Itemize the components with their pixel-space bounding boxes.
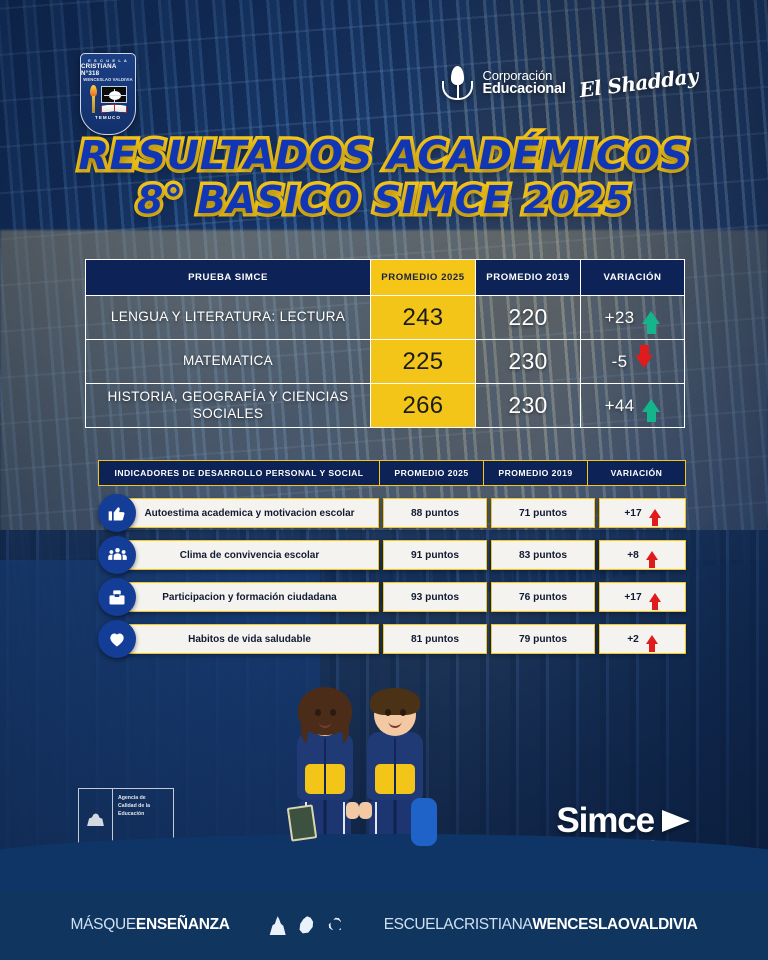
book-prop-icon (287, 804, 317, 841)
table-header-row: PRUEBA SIMCE PROMEDIO 2025 PROMEDIO 2019… (86, 260, 685, 296)
indicator-row-participacion: Participacion y formación ciudadana 93 p… (120, 582, 686, 612)
col-indicadores: INDICADORES DE DESARROLLO PERSONAL Y SOC… (99, 461, 380, 485)
col-variacion: VARIACIÓN (581, 260, 685, 296)
indicator-p2019: 71 puntos (491, 498, 595, 528)
footer-slogan-bold: ENSEÑANZA (136, 916, 230, 933)
simce-results-table: PRUEBA SIMCE PROMEDIO 2025 PROMEDIO 2019… (85, 259, 685, 428)
footer-curve (0, 834, 768, 890)
arrow-up-icon (646, 635, 658, 644)
indicator-p2025: 91 puntos (383, 540, 487, 570)
footer-school-name: ESCUELACRISTIANAWENCESLAOVALDIVIA (384, 916, 698, 934)
school-crest-logo: E S C U E L A CRISTIANA N°318 WENCESLAO … (80, 53, 136, 135)
indicator-row-autoestima: Autoestima academica y motivacion escola… (120, 498, 686, 528)
corporation-logo: Corporación Educacional El Shadday (442, 66, 698, 100)
footer-school-bold: WENCESLAOVALDIVIA (532, 916, 697, 933)
backpack-icon (411, 798, 437, 846)
page-title: RESULTADOS ACADÉMICOS 8° BASICO SIMCE 20… (0, 136, 768, 220)
footer-slogan: MÁSQUEENSEÑANZA (71, 916, 230, 934)
tree-icon (268, 915, 288, 935)
heart-outline-icon (325, 914, 347, 936)
footer-school-light: ESCUELACRISTIANA (384, 916, 533, 933)
crest-line-cristiana: CRISTIANA N°318 (81, 63, 135, 77)
indicator-p2025: 88 puntos (383, 498, 487, 528)
agency-line3: Educación (118, 811, 168, 819)
title-line-1: RESULTADOS ACADÉMICOS (0, 136, 768, 177)
table-row: HISTORIA, GEOGRAFÍA Y CIENCIAS SOCIALES … (86, 384, 685, 428)
arrow-up-icon (642, 311, 660, 324)
row-p2019-lectura: 220 (476, 296, 581, 340)
variation-value: +23 (605, 308, 635, 328)
ballot-box-icon (98, 578, 136, 616)
indicator-p2025: 93 puntos (383, 582, 487, 612)
indicator-variation: +2 (599, 624, 686, 654)
col-ind-promedio-2025: PROMEDIO 2025 (380, 461, 484, 485)
indicator-variation: +8 (599, 540, 686, 570)
corporation-script-name: El Shadday (578, 64, 699, 102)
corporation-text: Corporación Educacional (482, 69, 565, 97)
arrow-up-icon (646, 551, 658, 560)
indicator-p2019: 83 puntos (491, 540, 595, 570)
row-p2019-matematica: 230 (476, 340, 581, 384)
heart-icon (98, 620, 136, 658)
title-line-2: 8° BASICO SIMCE 2025 (0, 181, 768, 220)
row-name-historia: HISTORIA, GEOGRAFÍA Y CIENCIAS SOCIALES (86, 384, 371, 428)
paper-plane-icon (662, 810, 690, 832)
arrow-up-icon (649, 509, 661, 518)
hand-heart-icon (297, 915, 317, 935)
indicators-table: INDICADORES DE DESARROLLO PERSONAL Y SOC… (98, 460, 686, 654)
crest-emblem (89, 85, 127, 113)
flame-book-icon (442, 66, 473, 100)
poster-root: E S C U E L A CRISTIANA N°318 WENCESLAO … (0, 0, 768, 960)
row-variation-lectura: +23 (581, 296, 685, 340)
footer-icons (268, 915, 346, 935)
arrow-up-icon (642, 399, 660, 412)
crest-city: TEMUCO (95, 115, 121, 120)
torch-icon (89, 85, 98, 113)
thumbs-up-icon (98, 494, 136, 532)
row-p2025-matematica: 225 (371, 340, 476, 384)
table-row: LENGUA Y LITERATURA: LECTURA 243 220 +23 (86, 296, 685, 340)
table-row: MATEMATICA 225 230 -5 (86, 340, 685, 384)
variation-value: +44 (605, 396, 635, 416)
indicator-row-convivencia: Clima de convivencia escolar 91 puntos 8… (120, 540, 686, 570)
arrow-up-icon (649, 593, 661, 602)
row-p2019-historia: 230 (476, 384, 581, 428)
col-promedio-2025: PROMEDIO 2025 (371, 260, 476, 296)
indicator-p2019: 79 puntos (491, 624, 595, 654)
corporation-line2: Educacional (482, 82, 565, 97)
indicator-name: Clima de convivencia escolar (120, 540, 379, 570)
indicator-variation: +17 (599, 498, 686, 528)
indicator-name: Participacion y formación ciudadana (120, 582, 379, 612)
variation-value: +17 (624, 508, 641, 519)
variation-value: -5 (612, 352, 628, 372)
footer-bar: MÁSQUEENSEÑANZA ESCUELACRISTIANAWENCESLA… (0, 890, 768, 960)
people-group-icon (98, 536, 136, 574)
footer-slogan-light: MÁSQUE (71, 916, 136, 933)
open-book-icon (101, 86, 127, 113)
indicator-p2019: 76 puntos (491, 582, 595, 612)
agency-line2: Calidad de la (118, 803, 168, 811)
row-name-lectura: LENGUA Y LITERATURA: LECTURA (86, 296, 371, 340)
corporation-line1: Corporación (482, 69, 565, 82)
variation-value: +2 (627, 634, 639, 645)
col-promedio-2019: PROMEDIO 2019 (476, 260, 581, 296)
indicators-header-row: INDICADORES DE DESARROLLO PERSONAL Y SOC… (98, 460, 686, 486)
variation-value: +8 (627, 550, 639, 561)
arrow-down-icon (635, 355, 653, 368)
col-ind-promedio-2019: PROMEDIO 2019 (484, 461, 588, 485)
col-ind-variacion: VARIACIÓN (588, 461, 685, 485)
row-p2025-historia: 266 (371, 384, 476, 428)
row-p2025-lectura: 243 (371, 296, 476, 340)
crest-line-wenceslao: WENCESLAO VALDIVIA (83, 77, 132, 82)
variation-value: +17 (624, 592, 641, 603)
row-name-matematica: MATEMATICA (86, 340, 371, 384)
agency-line1: Agencia de (118, 795, 168, 803)
indicator-name: Autoestima academica y motivacion escola… (120, 498, 379, 528)
col-prueba-simce: PRUEBA SIMCE (86, 260, 371, 296)
row-variation-historia: +44 (581, 384, 685, 428)
row-variation-matematica: -5 (581, 340, 685, 384)
indicator-variation: +17 (599, 582, 686, 612)
